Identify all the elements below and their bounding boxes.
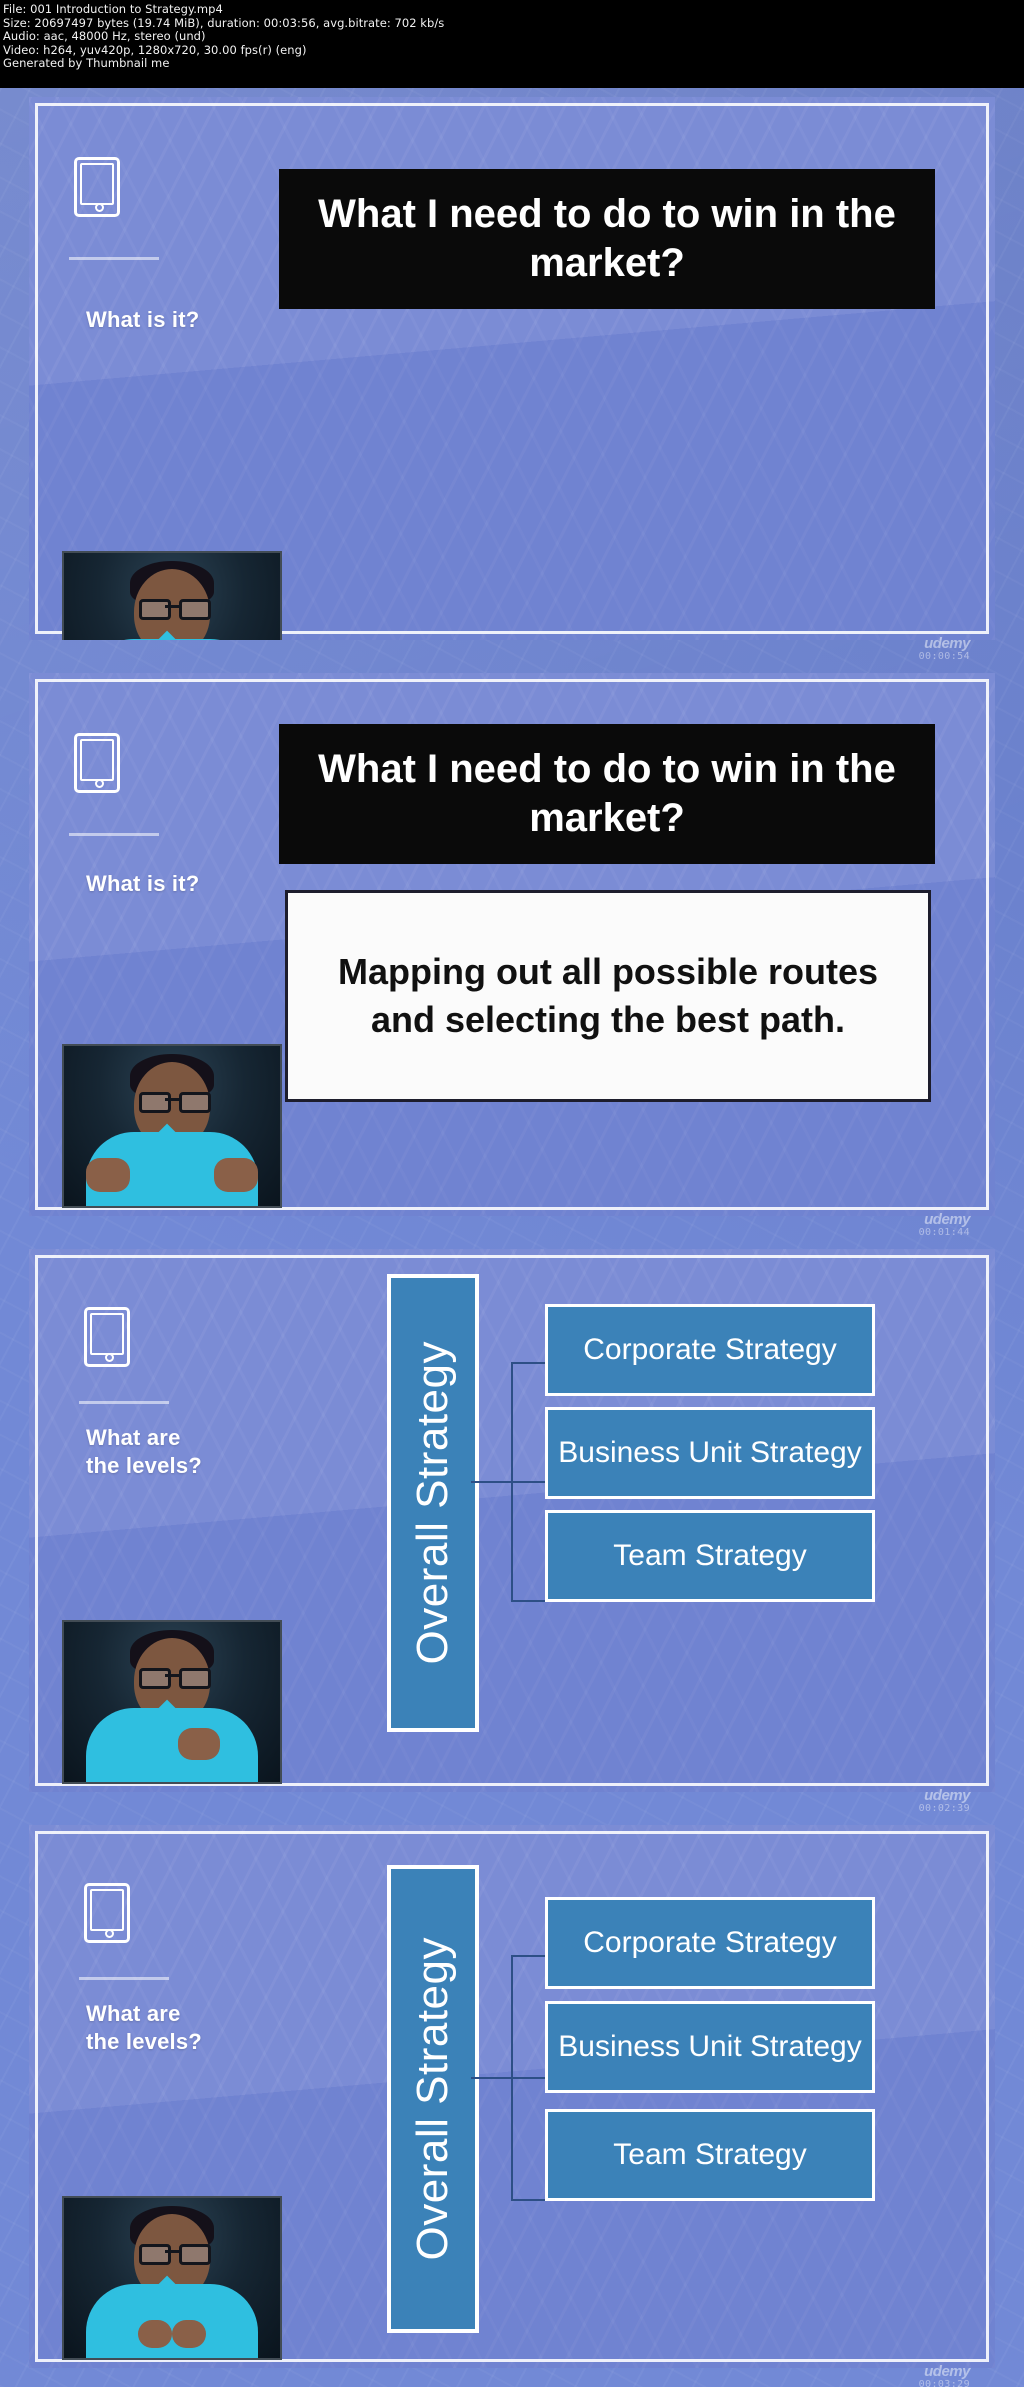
icon-underline <box>79 1977 169 1980</box>
presenter-video-thumbnail-2 <box>62 1044 282 1208</box>
presenter-glasses-left <box>139 599 171 620</box>
thumbnail-panel-1[interactable]: What is it? What I need to do to win in … <box>29 97 995 640</box>
presenter-glasses-bridge <box>165 605 179 608</box>
connector-stem-4 <box>471 2077 513 2079</box>
level-box-business-unit-4: Business Unit Strategy <box>545 2001 875 2093</box>
meta-video-line: Video: h264, yuv420p, 1280x720, 30.00 fp… <box>0 44 1024 58</box>
presenter-glasses-bridge <box>165 1098 179 1101</box>
panel-timestamp-4: 00:03:29 <box>860 2379 970 2387</box>
presenter-shirt <box>86 1708 258 1782</box>
panel-timestamp-1: 00:00:54 <box>860 651 970 663</box>
overall-strategy-box-4: Overall Strategy <box>387 1865 479 2333</box>
level-box-business-unit-3: Business Unit Strategy <box>545 1407 875 1499</box>
thumbnail-panel-2[interactable]: What is it? What I need to do to win in … <box>29 673 995 1216</box>
icon-underline <box>69 833 159 836</box>
presenter-glasses-bridge <box>165 2250 179 2253</box>
udemy-logo-2: udemy <box>860 1212 970 1227</box>
panel-watermark-2: udemy 00:01:44 <box>860 1212 970 1239</box>
panel-question-3: What are the levels? <box>86 1424 202 1480</box>
icon-underline <box>69 257 159 260</box>
thumbnail-sheet: What is it? What I need to do to win in … <box>0 88 1024 2387</box>
tablet-icon <box>84 1883 130 1943</box>
presenter-hand-right <box>214 1158 258 1192</box>
presenter-hand-right <box>172 2320 206 2348</box>
tablet-icon <box>74 157 120 217</box>
meta-generator-line: Generated by Thumbnail me <box>0 57 1024 71</box>
connector-branch-corporate <box>511 1955 547 1957</box>
connector-branch-business <box>511 2077 547 2079</box>
level-box-team-3: Team Strategy <box>545 1510 875 1602</box>
thumbnail-panel-3[interactable]: What are the levels? Overall Strategy Co… <box>29 1249 995 1792</box>
presenter-glasses-bridge <box>165 1674 179 1677</box>
meta-audio-line: Audio: aac, 48000 Hz, stereo (und) <box>0 30 1024 44</box>
connector-branch-team <box>511 1600 547 1602</box>
overall-strategy-label: Overall Strategy <box>408 1937 458 2260</box>
strategy-diagram-3: Overall Strategy Corporate Strategy Busi… <box>387 1274 917 1724</box>
level-box-corporate-3: Corporate Strategy <box>545 1304 875 1396</box>
presenter-video-thumbnail-1 <box>62 551 282 640</box>
connector-branch-team <box>511 2199 547 2201</box>
body-card-2: Mapping out all possible routes and sele… <box>285 890 931 1102</box>
presenter-glasses-right <box>179 2244 211 2265</box>
udemy-logo-4: udemy <box>860 2364 970 2379</box>
level-box-corporate-4: Corporate Strategy <box>545 1897 875 1989</box>
file-metadata-bar: File: 001 Introduction to Strategy.mp4 S… <box>0 0 1024 88</box>
panel-timestamp-3: 00:02:39 <box>860 1803 970 1815</box>
headline-card-1: What I need to do to win in the market? <box>279 169 935 309</box>
presenter-glasses-left <box>139 1668 171 1689</box>
level-box-team-4: Team Strategy <box>545 2109 875 2201</box>
thumbnail-panel-4[interactable]: What are the levels? Overall Strategy Co… <box>29 1825 995 2368</box>
connector-branch-business <box>511 1481 547 1483</box>
meta-size-line: Size: 20697497 bytes (19.74 MiB), durati… <box>0 17 1024 31</box>
connector-stem-3 <box>471 1481 513 1483</box>
presenter-glasses-left <box>139 2244 171 2265</box>
panel-question-4: What are the levels? <box>86 2000 202 2056</box>
panel-watermark-4: udemy 00:03:29 <box>860 2364 970 2387</box>
presenter-video-thumbnail-4 <box>62 2196 282 2360</box>
headline-card-2: What I need to do to win in the market? <box>279 724 935 864</box>
presenter-video-thumbnail-3 <box>62 1620 282 1784</box>
presenter-glasses-right <box>179 599 211 620</box>
connector-branch-corporate <box>511 1362 547 1364</box>
presenter-glasses-left <box>139 1092 171 1113</box>
udemy-logo-1: udemy <box>860 636 970 651</box>
presenter-glasses-right <box>179 1668 211 1689</box>
presenter-shirt <box>86 2284 258 2358</box>
icon-underline <box>79 1401 169 1404</box>
tablet-icon <box>74 733 120 793</box>
presenter-hand-left <box>86 1158 130 1192</box>
tablet-icon <box>84 1307 130 1367</box>
meta-file-line: File: 001 Introduction to Strategy.mp4 <box>0 0 1024 17</box>
strategy-diagram-4: Overall Strategy Corporate Strategy Busi… <box>387 1865 917 2325</box>
presenter-glasses-right <box>179 1092 211 1113</box>
panel-watermark-1: udemy 00:00:54 <box>860 636 970 663</box>
overall-strategy-label: Overall Strategy <box>408 1341 458 1664</box>
presenter-hand-right <box>178 1728 220 1760</box>
udemy-logo-3: udemy <box>860 1788 970 1803</box>
panel-question-2: What is it? <box>86 870 199 898</box>
presenter-hand-left <box>138 2320 172 2348</box>
panel-watermark-3: udemy 00:02:39 <box>860 1788 970 1815</box>
panel-question-1: What is it? <box>86 306 199 334</box>
panel-timestamp-2: 00:01:44 <box>860 1227 970 1239</box>
overall-strategy-box-3: Overall Strategy <box>387 1274 479 1732</box>
